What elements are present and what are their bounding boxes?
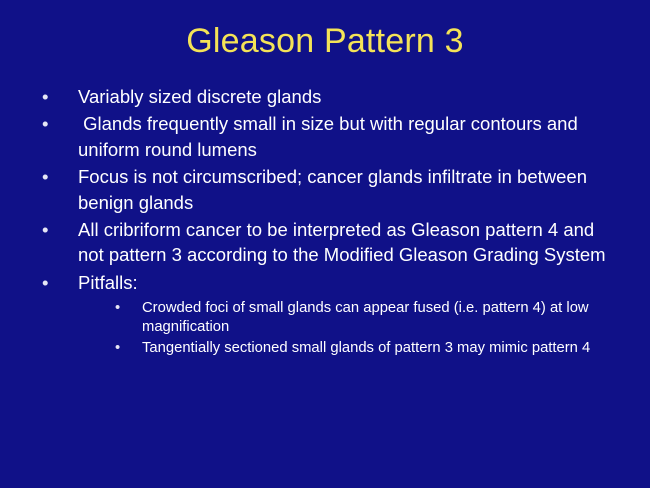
list-item: • Focus is not circumscribed; cancer gla… xyxy=(36,164,621,215)
bullet-marker-icon: • xyxy=(42,84,56,109)
list-item: • All cribriform cancer to be interprete… xyxy=(36,217,621,268)
list-item: • Glands frequently small in size but wi… xyxy=(36,111,621,162)
list-item-text: Glands frequently small in size but with… xyxy=(78,111,621,162)
bullet-marker-icon: • xyxy=(42,111,56,136)
bullet-marker-icon: • xyxy=(42,270,56,295)
page-title: Gleason Pattern 3 xyxy=(0,20,650,62)
bullet-marker-icon: • xyxy=(42,217,56,242)
slide-content-list: • Variably sized discrete glands • Gland… xyxy=(36,84,621,361)
sub-list-item: • Crowded foci of small glands can appea… xyxy=(110,299,642,336)
sub-list-item-text: Tangentially sectioned small glands of p… xyxy=(142,339,642,358)
sub-bullet-marker-icon: • xyxy=(115,339,127,358)
list-item-text: Focus is not circumscribed; cancer gland… xyxy=(78,164,621,215)
bullet-marker-icon: • xyxy=(42,164,56,189)
presentation-slide: Gleason Pattern 3 • Variably sized discr… xyxy=(0,0,650,488)
list-item: • Variably sized discrete glands xyxy=(36,84,621,109)
list-item-text: Variably sized discrete glands xyxy=(78,84,621,109)
sub-bullet-marker-icon: • xyxy=(115,299,127,318)
list-item: • Pitfalls: • Crowded foci of small glan… xyxy=(36,270,621,358)
list-item-text: All cribriform cancer to be interpreted … xyxy=(78,217,621,268)
sub-list-item-text: Crowded foci of small glands can appear … xyxy=(142,299,642,336)
list-item-text: Pitfalls: xyxy=(78,270,621,295)
sub-list: • Crowded foci of small glands can appea… xyxy=(78,299,621,358)
sub-list-item: • Tangentially sectioned small glands of… xyxy=(110,339,642,358)
